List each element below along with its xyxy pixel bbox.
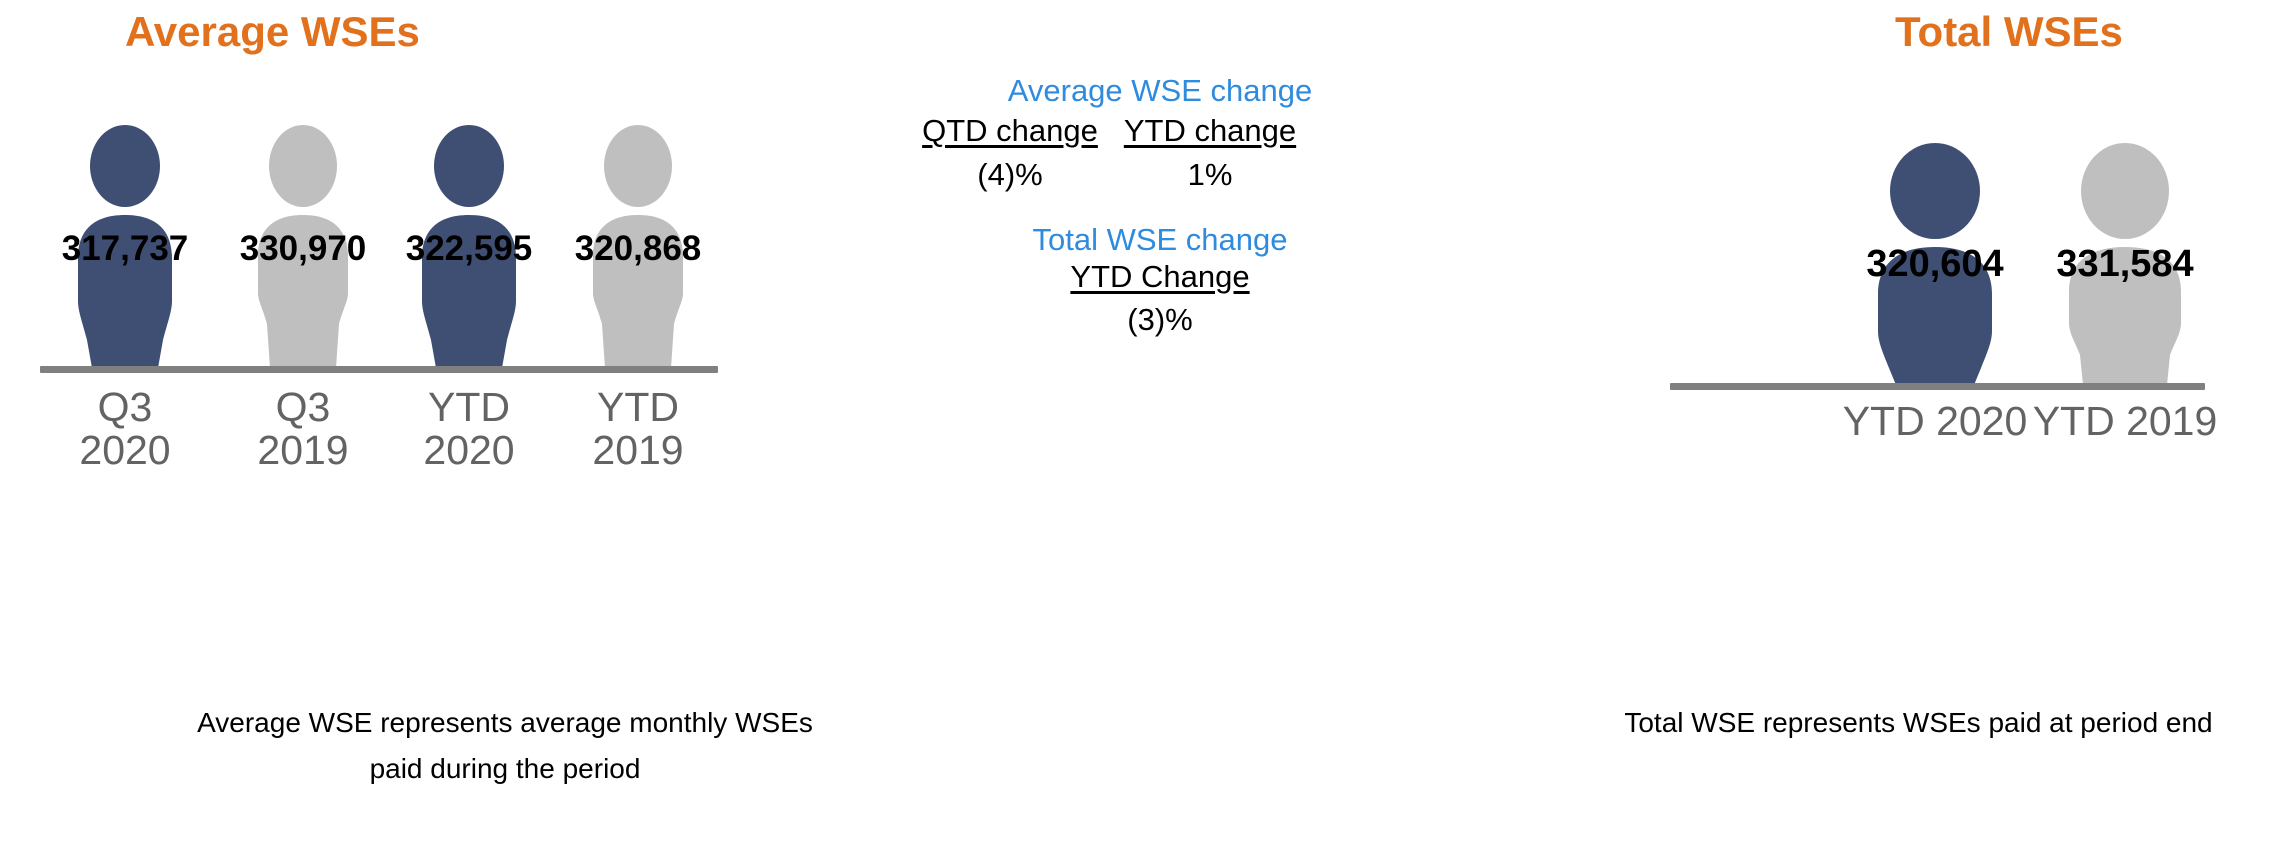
category-label-line2: 2019 bbox=[213, 429, 393, 472]
footnote-line-1: Average WSE represents average monthly W… bbox=[0, 700, 1010, 746]
baseline-axis-left bbox=[40, 366, 718, 373]
baseline-axis-right bbox=[1670, 383, 2205, 390]
category-label-line2: 2019 bbox=[548, 429, 728, 472]
category-label-line2: 2020 bbox=[35, 429, 215, 472]
category-label-line1: YTD bbox=[548, 386, 728, 429]
footnote-line-1: Total WSE represents WSEs paid at period… bbox=[1560, 700, 2277, 746]
total-wse-change-heading: Total WSE change bbox=[890, 222, 1430, 258]
category-label-line1: Q3 bbox=[213, 386, 393, 429]
footnote-line-2: paid during the period bbox=[0, 746, 1010, 792]
value-label-ytd-2019: 320,868 bbox=[528, 229, 748, 269]
category-label-line2: 2020 bbox=[379, 429, 559, 472]
page-title-total-wses: Total WSEs bbox=[1895, 8, 2123, 56]
category-label-ytd-2020: YTD 2020 bbox=[379, 386, 559, 473]
value-label-total-ytd-2019: 331,584 bbox=[2000, 243, 2250, 286]
ytd-change-value: 1% bbox=[1060, 157, 1360, 193]
total-ytd-change-value: (3)% bbox=[890, 302, 1430, 338]
category-label-q3-2020: Q3 2020 bbox=[35, 386, 215, 473]
category-label-q3-2019: Q3 2019 bbox=[213, 386, 393, 473]
average-wse-change-heading: Average WSE change bbox=[860, 73, 1460, 109]
category-label-ytd-2019: YTD 2019 bbox=[548, 386, 728, 473]
footnote-total-wse: Total WSE represents WSEs paid at period… bbox=[1560, 700, 2277, 746]
category-label-line1: Q3 bbox=[35, 386, 215, 429]
page-title-average-wses: Average WSEs bbox=[125, 8, 420, 56]
footnote-average-wse: Average WSE represents average monthly W… bbox=[0, 700, 1010, 792]
category-label-total-ytd-2019: YTD 2019 bbox=[2010, 400, 2240, 443]
total-ytd-change-label: YTD Change bbox=[890, 259, 1430, 295]
category-label-line1: YTD bbox=[379, 386, 559, 429]
ytd-change-label: YTD change bbox=[1060, 113, 1360, 149]
